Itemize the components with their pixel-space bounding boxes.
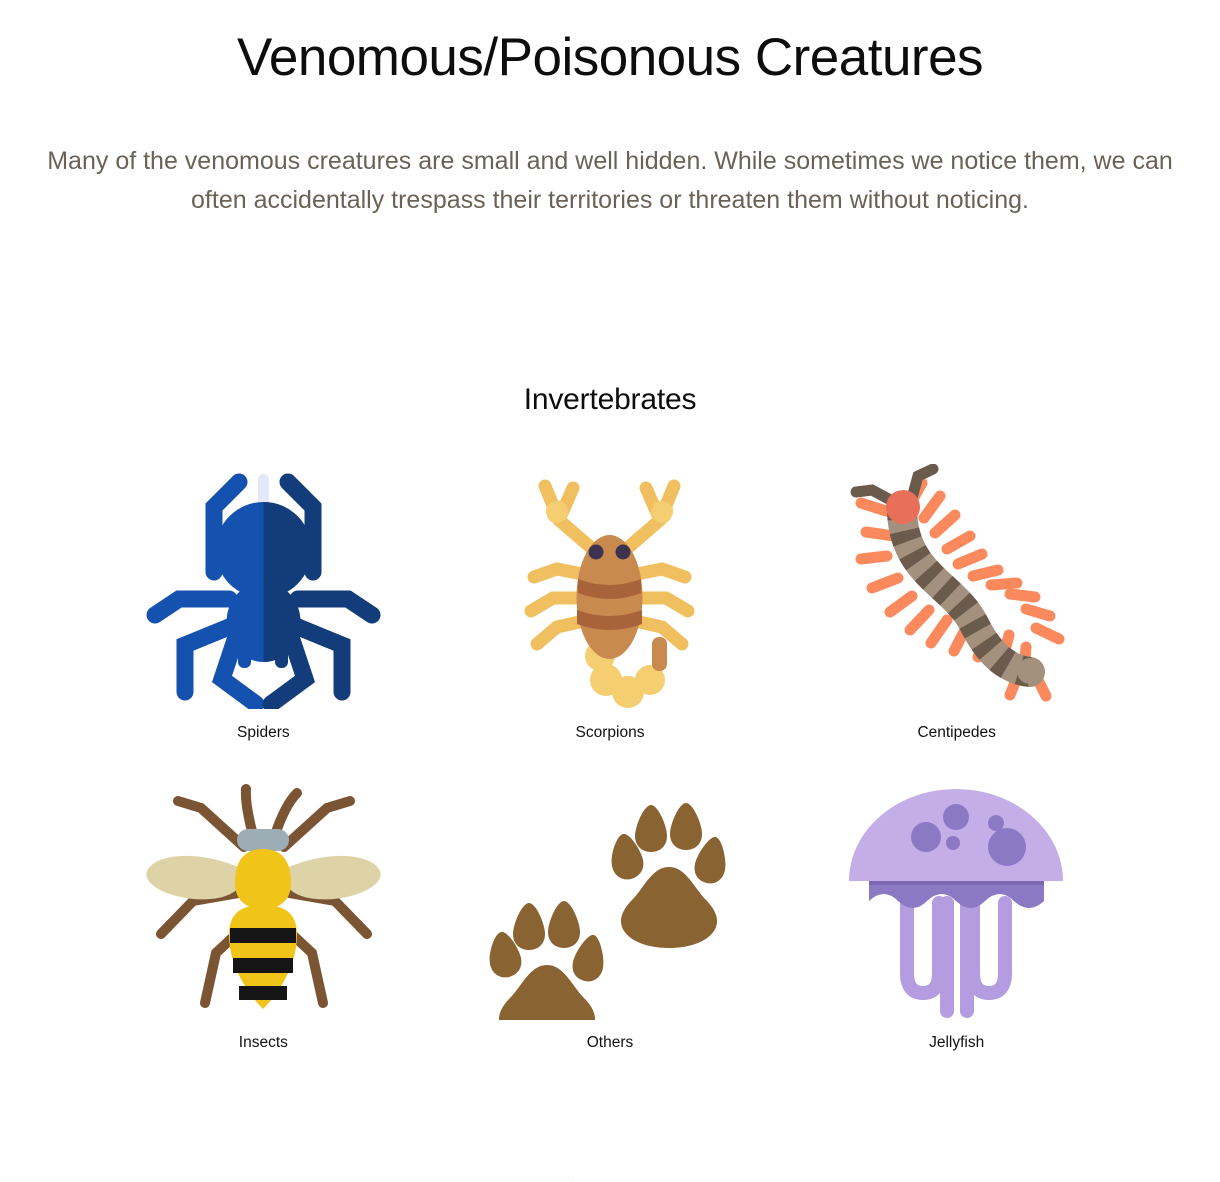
centipede-icon [832, 462, 1082, 712]
creature-label: Others [587, 1034, 634, 1053]
creature-cell-centipedes[interactable]: Centipedes [783, 462, 1130, 743]
bee-icon [138, 772, 388, 1022]
scorpion-icon [485, 462, 735, 712]
creature-label: Centipedes [917, 724, 995, 743]
creature-label: Jellyfish [929, 1034, 984, 1053]
paw-prints-icon [485, 772, 735, 1022]
section-title-invertebrates: Invertebrates [0, 221, 1220, 417]
creature-label: Insects [239, 1034, 288, 1053]
page-root: Venomous/Poisonous Creatures Many of the… [0, 0, 1220, 1182]
creature-cell-spiders[interactable]: Spiders [90, 462, 437, 743]
spider-icon [138, 462, 388, 712]
bottom-edge-divider [0, 1176, 575, 1182]
creature-cell-others[interactable]: Others [437, 772, 784, 1053]
creature-grid: Spiders [90, 417, 1130, 1053]
creature-label: Spiders [237, 724, 290, 743]
creature-cell-jellyfish[interactable]: Jellyfish [783, 772, 1130, 1053]
creature-cell-scorpions[interactable]: Scorpions [437, 462, 784, 743]
creature-cell-insects[interactable]: Insects [90, 772, 437, 1053]
creature-label: Scorpions [576, 724, 645, 743]
page-subtitle: Many of the venomous creatures are small… [25, 142, 1195, 221]
page-title: Venomous/Poisonous Creatures [0, 0, 1220, 86]
jellyfish-icon [832, 772, 1082, 1022]
